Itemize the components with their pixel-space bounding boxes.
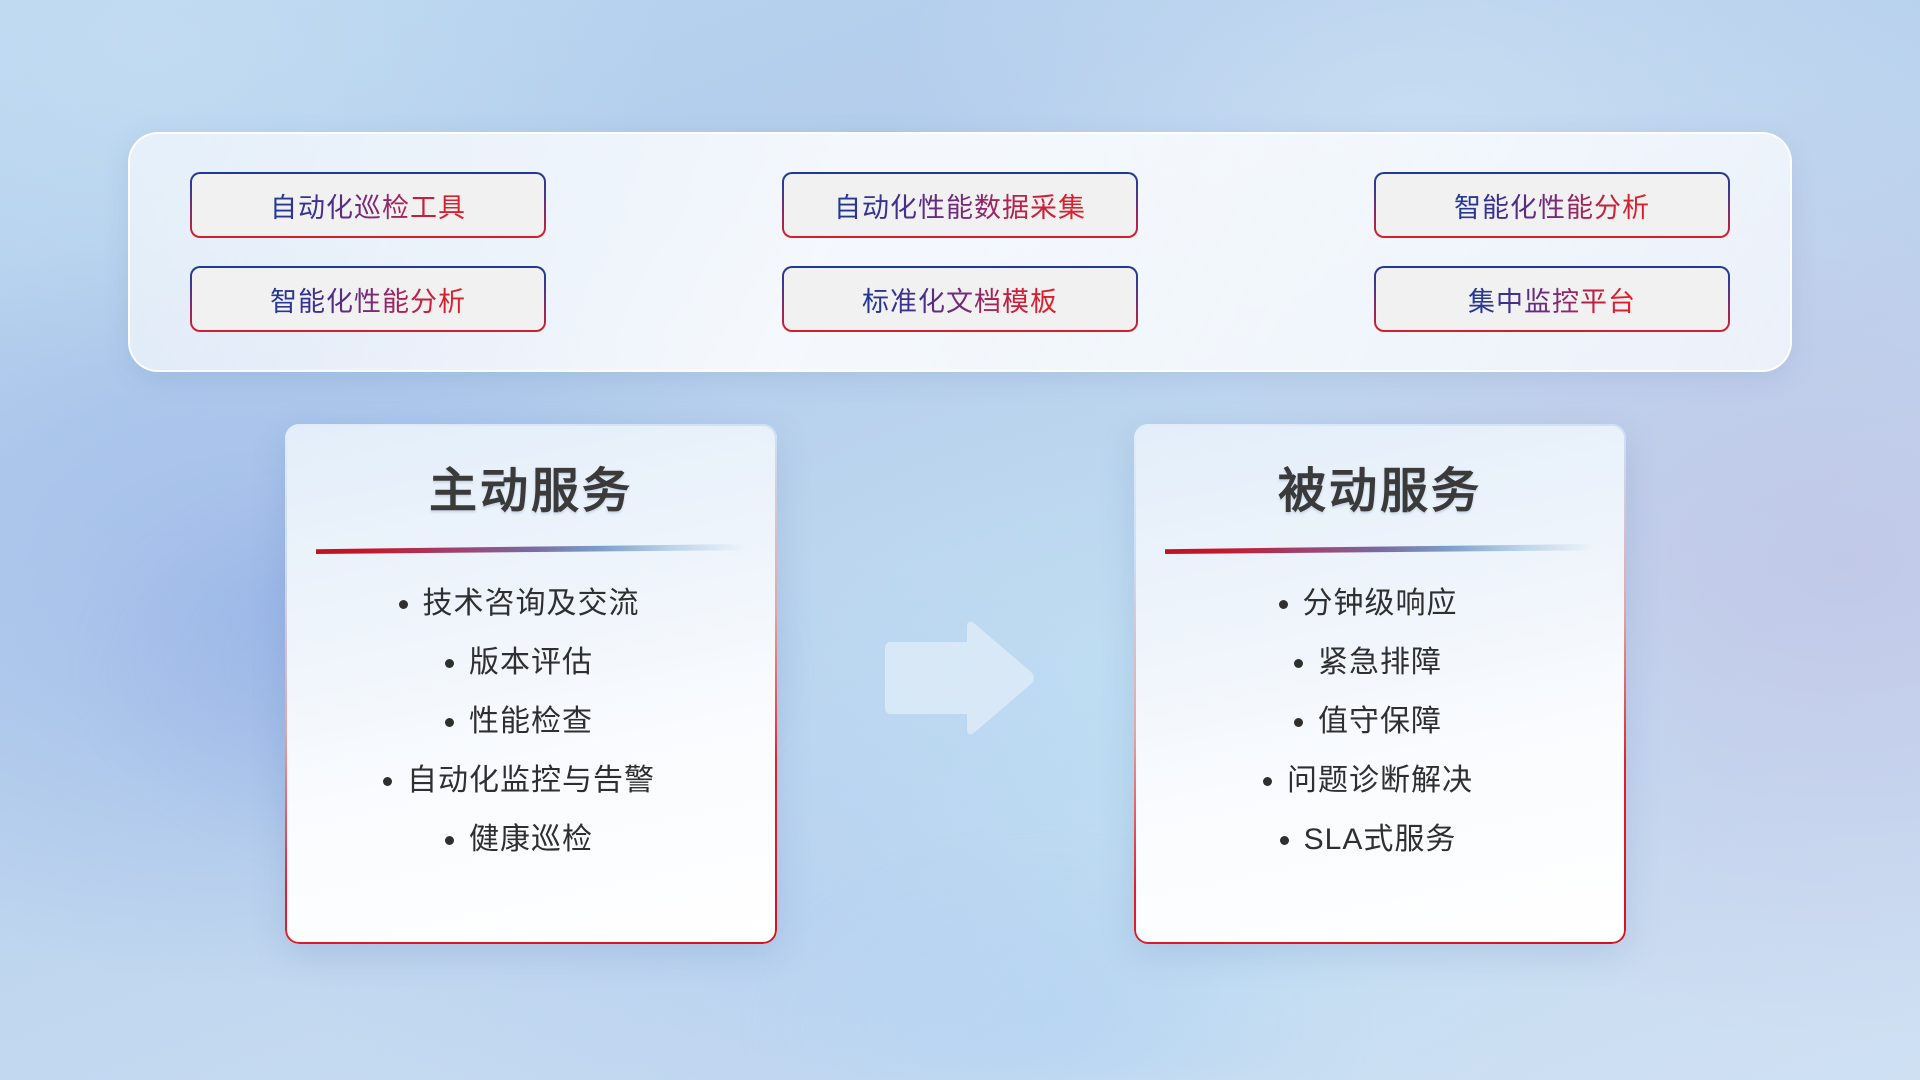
arrow-right-icon: [875, 618, 1037, 740]
list-item: 健康巡检: [469, 822, 593, 858]
capability-chip[interactable]: 自动化巡检工具: [190, 172, 546, 238]
card-item-list: 分钟级响应 紧急排障 值守保障 问题诊断解决 SLA式服务: [1160, 586, 1600, 858]
list-item: 分钟级响应: [1303, 586, 1458, 622]
capability-row-1: 自动化巡检工具 自动化性能数据采集 智能化性能分析: [190, 172, 1730, 238]
list-item: 自动化监控与告警: [407, 763, 655, 799]
service-card-proactive: 主动服务 技术咨询及交流 版本评估 性能检查 自动化监控与告警 健康巡检: [285, 424, 777, 944]
title-divider: [316, 544, 746, 554]
capabilities-panel: 自动化巡检工具 自动化性能数据采集 智能化性能分析 智能化性能分析 标准化文档模…: [128, 132, 1792, 372]
capability-chip-label: 自动化性能数据采集: [834, 186, 1086, 225]
capability-row-2: 智能化性能分析 标准化文档模板 集中监控平台: [190, 266, 1730, 332]
title-divider: [1165, 544, 1595, 554]
service-card-reactive: 被动服务 分钟级响应 紧急排障 值守保障 问题诊断解决 SLA式服务: [1134, 424, 1626, 944]
list-item: SLA式服务: [1304, 822, 1457, 858]
list-item: 紧急排障: [1318, 645, 1442, 681]
capability-chip-label: 自动化巡检工具: [270, 186, 466, 225]
capability-chip[interactable]: 智能化性能分析: [1374, 172, 1730, 238]
list-item: 版本评估: [469, 645, 593, 681]
list-item: 性能检查: [469, 704, 593, 740]
list-item: 问题诊断解决: [1287, 763, 1473, 799]
capability-chip[interactable]: 集中监控平台: [1374, 266, 1730, 332]
list-item: 技术咨询及交流: [423, 586, 640, 622]
capability-chip[interactable]: 标准化文档模板: [782, 266, 1138, 332]
card-title: 被动服务: [1278, 468, 1482, 516]
list-item: 值守保障: [1318, 704, 1442, 740]
capability-chip[interactable]: 自动化性能数据采集: [782, 172, 1138, 238]
capability-chip[interactable]: 智能化性能分析: [190, 266, 546, 332]
capability-chip-label: 智能化性能分析: [1454, 186, 1650, 225]
capability-chip-label: 智能化性能分析: [270, 280, 466, 319]
capability-chip-label: 集中监控平台: [1468, 280, 1636, 319]
card-title: 主动服务: [429, 468, 633, 516]
card-item-list: 技术咨询及交流 版本评估 性能检查 自动化监控与告警 健康巡检: [311, 586, 751, 858]
slide-canvas: 自动化巡检工具 自动化性能数据采集 智能化性能分析 智能化性能分析 标准化文档模…: [0, 0, 1920, 1080]
capability-chip-label: 标准化文档模板: [862, 280, 1058, 319]
